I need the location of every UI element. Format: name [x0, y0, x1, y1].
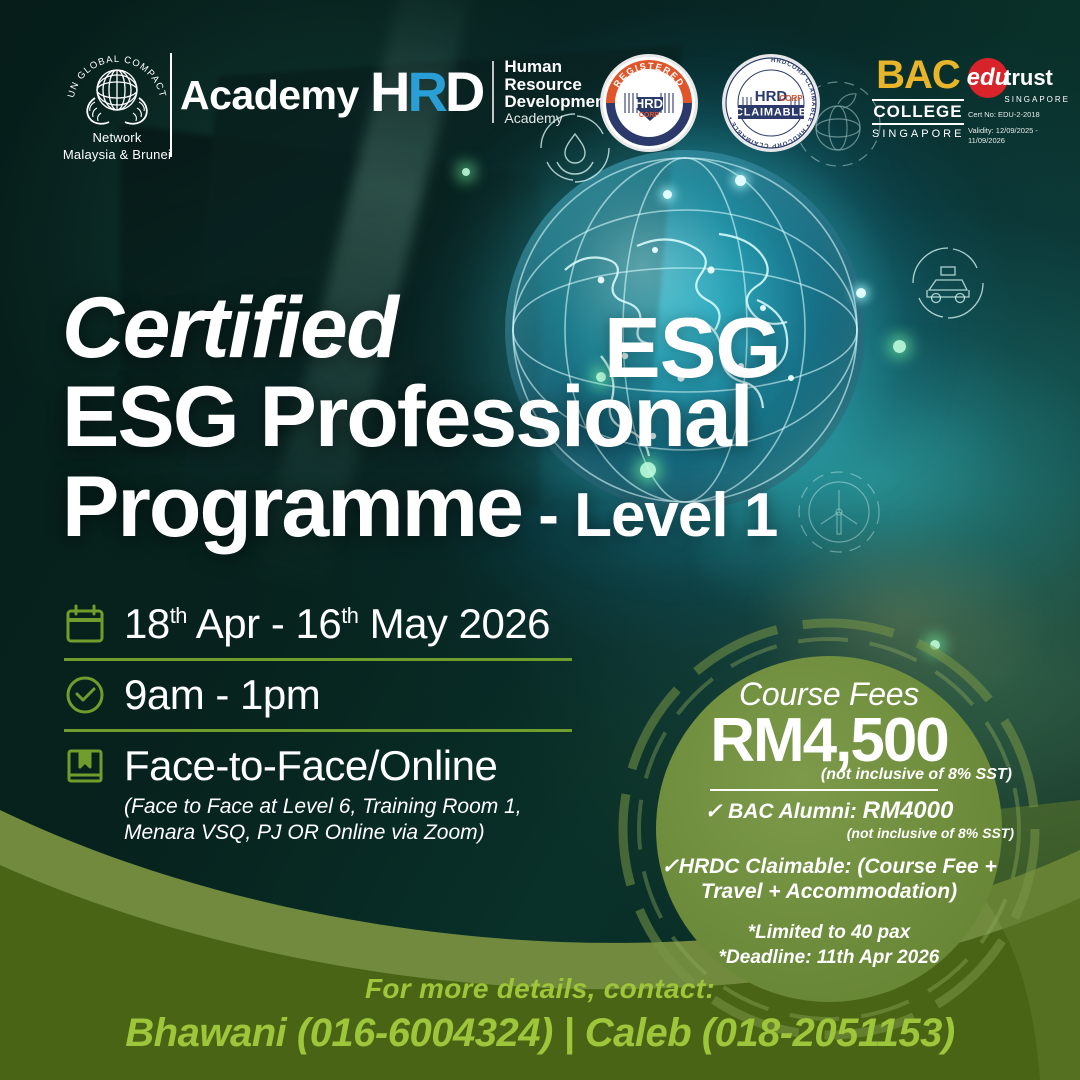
- hrdcorp-claimable-badge: HRDCORP CLAIMABLE • HRDCORP CLAIMABLE • …: [722, 54, 820, 152]
- title-level-word: - Level 1: [522, 481, 777, 550]
- hrd-letter-r: R: [407, 60, 444, 123]
- header-divider: [170, 53, 172, 157]
- contact-lead: For more details, contact:: [0, 973, 1080, 1005]
- fee-amount: RM4,500: [618, 709, 1040, 772]
- bac-country: SINGAPORE: [872, 128, 964, 140]
- hrd-word-academy: Academy: [504, 111, 611, 126]
- hrd-letter-h: H: [370, 60, 407, 123]
- hrd-word-development: Development: [504, 93, 611, 111]
- date-day1: 18: [124, 600, 170, 647]
- fee-sst-note: (not inclusive of 8% SST): [618, 766, 1040, 784]
- un-global-compact-logo: UN GLOBAL COMPACT: [58, 50, 176, 162]
- hrdcorp-registered-badge: REGISTERED TRAINING PROVIDER HRD CORP: [600, 54, 698, 152]
- date-month2: May 2026: [358, 600, 550, 647]
- hrd-word-human: Human: [504, 58, 611, 76]
- title-line-certified: Certified: [62, 286, 1052, 370]
- academy-wordmark: Academy: [180, 72, 359, 119]
- detail-row-date: 18th Apr - 16th May 2026: [64, 600, 624, 648]
- un-globe-laurel-icon: UN GLOBAL COMPACT: [61, 50, 173, 128]
- fee-divider: [710, 789, 938, 791]
- calendar-icon: [64, 603, 106, 645]
- fee-hrdc-line2: Travel + Accommodation): [646, 879, 1012, 904]
- badge-registered-center-sub: CORP: [639, 112, 660, 119]
- network-node: [735, 175, 746, 186]
- page-title: Certified ESG Professional Programme - L…: [62, 286, 1052, 552]
- badge-claimable-center-sub: CORP: [779, 94, 803, 103]
- fee-alumni-sst-note: (not inclusive of 8% SST): [618, 825, 1040, 841]
- contact-footer: For more details, contact: Bhawani (016-…: [0, 973, 1080, 1080]
- logo-header: UN GLOBAL COMPACT: [0, 0, 1080, 175]
- date-month1: Apr -: [187, 600, 296, 647]
- edutrust-logo: edu trust SINGAPORE Cert No: EDU-2-2018 …: [968, 58, 1072, 146]
- fee-alumni-row: ✓ BAC Alumni: RM4000: [618, 797, 1040, 825]
- un-logo-line1: Network: [58, 130, 176, 145]
- hrd-monogram: HRD: [370, 64, 482, 120]
- fee-extra-notes: *Limited to 40 pax *Deadline: 11th Apr 2…: [618, 920, 1040, 970]
- edutrust-validity: Validity: 12/09/2025 - 11/09/2026: [968, 126, 1072, 146]
- bac-college-logo: BAC COLLEGE SINGAPORE: [872, 56, 964, 140]
- title-programme-word: Programme: [62, 459, 522, 555]
- detail-date-value: 18th Apr - 16th May 2026: [124, 600, 550, 648]
- badge-registered-center: HRD: [635, 96, 663, 111]
- fee-deadline-note: *Deadline: 11th Apr 2026: [618, 945, 1040, 970]
- fee-alumni-label: ✓ BAC Alumni:: [705, 800, 863, 823]
- hrd-word-resource: Resource: [504, 76, 611, 94]
- date-day2: 16: [295, 600, 341, 647]
- fee-alumni-amount: RM4000: [863, 797, 954, 824]
- date-sup2: th: [341, 603, 358, 628]
- course-fees-panel: Course Fees RM4,500 (not inclusive of 8%…: [656, 656, 1002, 1002]
- hrd-wordmark: Human Resource Development Academy: [504, 58, 611, 126]
- fee-hrdc-line1: ✓HRDC Claimable: (Course Fee +: [646, 854, 1012, 879]
- date-sup1: th: [170, 603, 187, 628]
- edutrust-edu: edu: [968, 58, 1008, 98]
- poster-root: UN GLOBAL COMPACT: [0, 0, 1080, 1080]
- hrd-letter-d: D: [445, 60, 482, 123]
- title-line-programme: Programme - Level 1: [62, 464, 1052, 552]
- edutrust-mark: edu trust: [968, 58, 1072, 98]
- fee-hrdc-note: ✓HRDC Claimable: (Course Fee + Travel + …: [618, 854, 1040, 904]
- network-node: [663, 190, 672, 199]
- contact-numbers[interactable]: Bhawani (016-6004324) | Caleb (018-20511…: [0, 1011, 1080, 1056]
- fee-limit-note: *Limited to 40 pax: [618, 920, 1040, 945]
- hrd-academy-logo: HRD Human Resource Development Academy: [370, 58, 611, 126]
- edutrust-trust: trust: [1004, 65, 1053, 91]
- edutrust-cert-no: Cert No: EDU-2-2018: [968, 110, 1072, 120]
- hrd-divider: [492, 61, 494, 123]
- title-line-esg-professional: ESG Professional: [62, 374, 1052, 462]
- badge-claimable-banner: CLAIMABLE: [735, 107, 807, 119]
- course-fees-content: Course Fees RM4,500 (not inclusive of 8%…: [618, 676, 1040, 970]
- un-logo-line2: Malaysia & Brunei: [58, 147, 176, 162]
- bac-letters: BAC: [872, 56, 964, 94]
- detail-divider-1: [64, 658, 572, 661]
- bac-college-word: COLLEGE: [872, 99, 964, 125]
